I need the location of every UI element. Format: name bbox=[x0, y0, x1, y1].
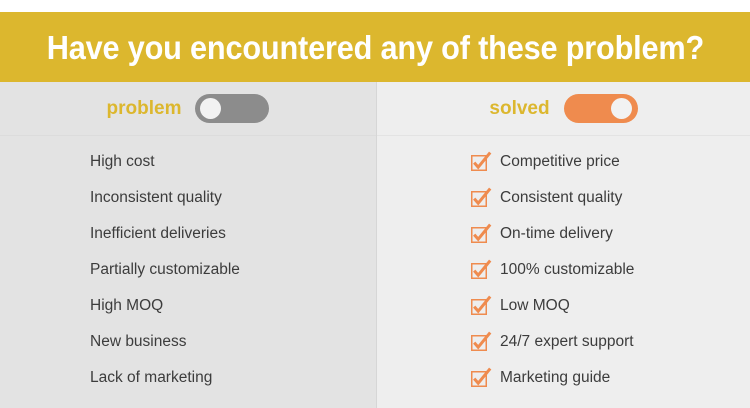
problem-toggle-knob bbox=[200, 98, 221, 119]
checkbox-checked-icon bbox=[471, 155, 486, 170]
top-gutter bbox=[0, 0, 750, 12]
list-item: Inconsistent quality bbox=[0, 180, 376, 216]
list-item: Lack of marketing bbox=[0, 360, 376, 396]
problem-toggle[interactable] bbox=[195, 94, 269, 123]
list-item: Consistent quality bbox=[377, 180, 750, 216]
solved-toggle-row: solved bbox=[377, 82, 750, 136]
list-item: Low MOQ bbox=[377, 288, 750, 324]
list-item-label: 24/7 expert support bbox=[500, 334, 634, 350]
list-item-label: Lack of marketing bbox=[90, 370, 212, 386]
list-item-label: Consistent quality bbox=[500, 190, 622, 206]
list-item-label: Inefficient deliveries bbox=[90, 226, 226, 242]
list-item-label: High MOQ bbox=[90, 298, 163, 314]
list-item: Partially customizable bbox=[0, 252, 376, 288]
checkbox-checked-icon bbox=[471, 299, 486, 314]
list-item: Inefficient deliveries bbox=[0, 216, 376, 252]
solved-toggle-knob bbox=[611, 98, 632, 119]
list-item-label: New business bbox=[90, 334, 187, 350]
list-item: Competitive price bbox=[377, 144, 750, 180]
list-item: 100% customizable bbox=[377, 252, 750, 288]
list-item-label: High cost bbox=[90, 154, 155, 170]
checkbox-checked-icon bbox=[471, 191, 486, 206]
list-item-label: Competitive price bbox=[500, 154, 620, 170]
checkbox-checked-icon bbox=[471, 227, 486, 242]
checkbox-checked-icon bbox=[471, 263, 486, 278]
list-item: High cost bbox=[0, 144, 376, 180]
list-item-label: Low MOQ bbox=[500, 298, 570, 314]
list-item-label: Inconsistent quality bbox=[90, 190, 222, 206]
problem-list: High cost Inconsistent quality Inefficie… bbox=[0, 136, 376, 408]
solved-toggle[interactable] bbox=[564, 94, 638, 123]
list-item: New business bbox=[0, 324, 376, 360]
comparison-columns: problem High cost Inconsistent quality I… bbox=[0, 82, 750, 408]
problem-toggle-row: problem bbox=[0, 82, 376, 136]
list-item: On-time delivery bbox=[377, 216, 750, 252]
list-item-label: Partially customizable bbox=[90, 262, 240, 278]
problem-column: problem High cost Inconsistent quality I… bbox=[0, 82, 376, 408]
list-item-label: On-time delivery bbox=[500, 226, 613, 242]
comparison-banner: Have you encountered any of these proble… bbox=[0, 0, 750, 408]
list-item: High MOQ bbox=[0, 288, 376, 324]
solved-list: Competitive price Consistent quality bbox=[377, 136, 750, 408]
problem-label: problem bbox=[107, 99, 182, 118]
header-bar: Have you encountered any of these proble… bbox=[0, 12, 750, 82]
list-item-label: Marketing guide bbox=[500, 370, 610, 386]
list-item: Marketing guide bbox=[377, 360, 750, 396]
list-item-label: 100% customizable bbox=[500, 262, 634, 278]
page-title: Have you encountered any of these proble… bbox=[46, 31, 703, 64]
solved-column: solved Competitive price bbox=[376, 82, 750, 408]
solved-label: solved bbox=[489, 99, 549, 118]
checkbox-checked-icon bbox=[471, 335, 486, 350]
checkbox-checked-icon bbox=[471, 371, 486, 386]
list-item: 24/7 expert support bbox=[377, 324, 750, 360]
